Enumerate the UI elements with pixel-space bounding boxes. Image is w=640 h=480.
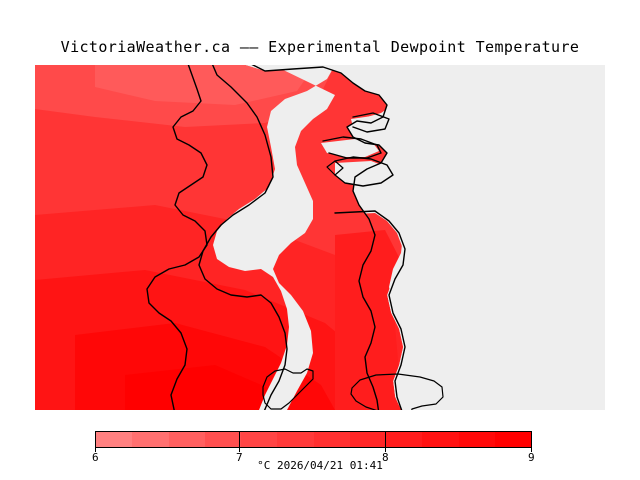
page-title: VictoriaWeather.ca —— Experimental Dewpo… [0,38,640,56]
dewpoint-heatmap-svg [35,65,605,410]
colorbar-swatch-6 [314,432,350,447]
colorbar-gradient [96,432,531,447]
colorbar-swatch-9 [422,432,458,447]
colorbar-tick-8 [385,431,386,448]
contour-band-east-warm [335,230,403,410]
colorbar-swatch-0 [96,432,132,447]
colorbar-caption: °C 2026/04/21 01:41 [0,459,640,472]
colorbar-swatch-4 [241,432,277,447]
colorbar-swatch-7 [350,432,386,447]
colorbar-swatch-8 [386,432,422,447]
colorbar-swatch-3 [205,432,241,447]
colorbar-tick-7 [239,431,240,448]
weather-map-page: VictoriaWeather.ca —— Experimental Dewpo… [0,0,640,480]
colorbar-swatch-5 [277,432,313,447]
colorbar-swatch-11 [495,432,531,447]
colorbar-swatch-2 [169,432,205,447]
colorbar-swatch-1 [132,432,168,447]
map-panel[interactable] [35,65,605,410]
colorbar [95,431,532,448]
colorbar-swatch-10 [459,432,495,447]
